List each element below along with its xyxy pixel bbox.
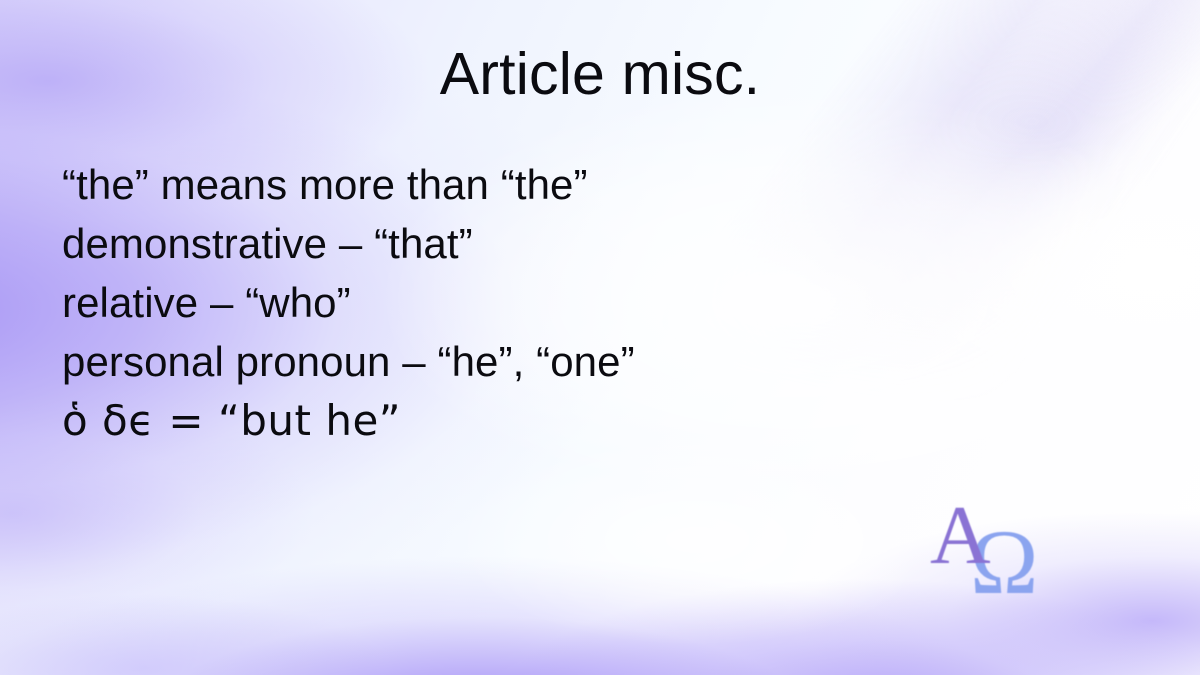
slide-title: Article misc. <box>0 44 1200 106</box>
body-line-3: relative – “who” <box>62 273 1142 332</box>
body-line-1: “the” means more than “the” <box>62 155 1142 214</box>
presentation-slide: Article misc. “the” means more than “the… <box>0 0 1200 675</box>
body-line-2: demonstrative – “that” <box>62 214 1142 273</box>
body-line-5-greek: ὁ δϵ = “but he” <box>62 391 1142 450</box>
alpha-icon: Α <box>930 494 991 578</box>
alpha-omega-logo: Ω Α <box>928 494 1060 598</box>
body-line-4: personal pronoun – “he”, “one” <box>62 332 1142 391</box>
slide-body: “the” means more than “the” demonstrativ… <box>62 155 1142 450</box>
slide-content: Article misc. “the” means more than “the… <box>0 0 1200 675</box>
